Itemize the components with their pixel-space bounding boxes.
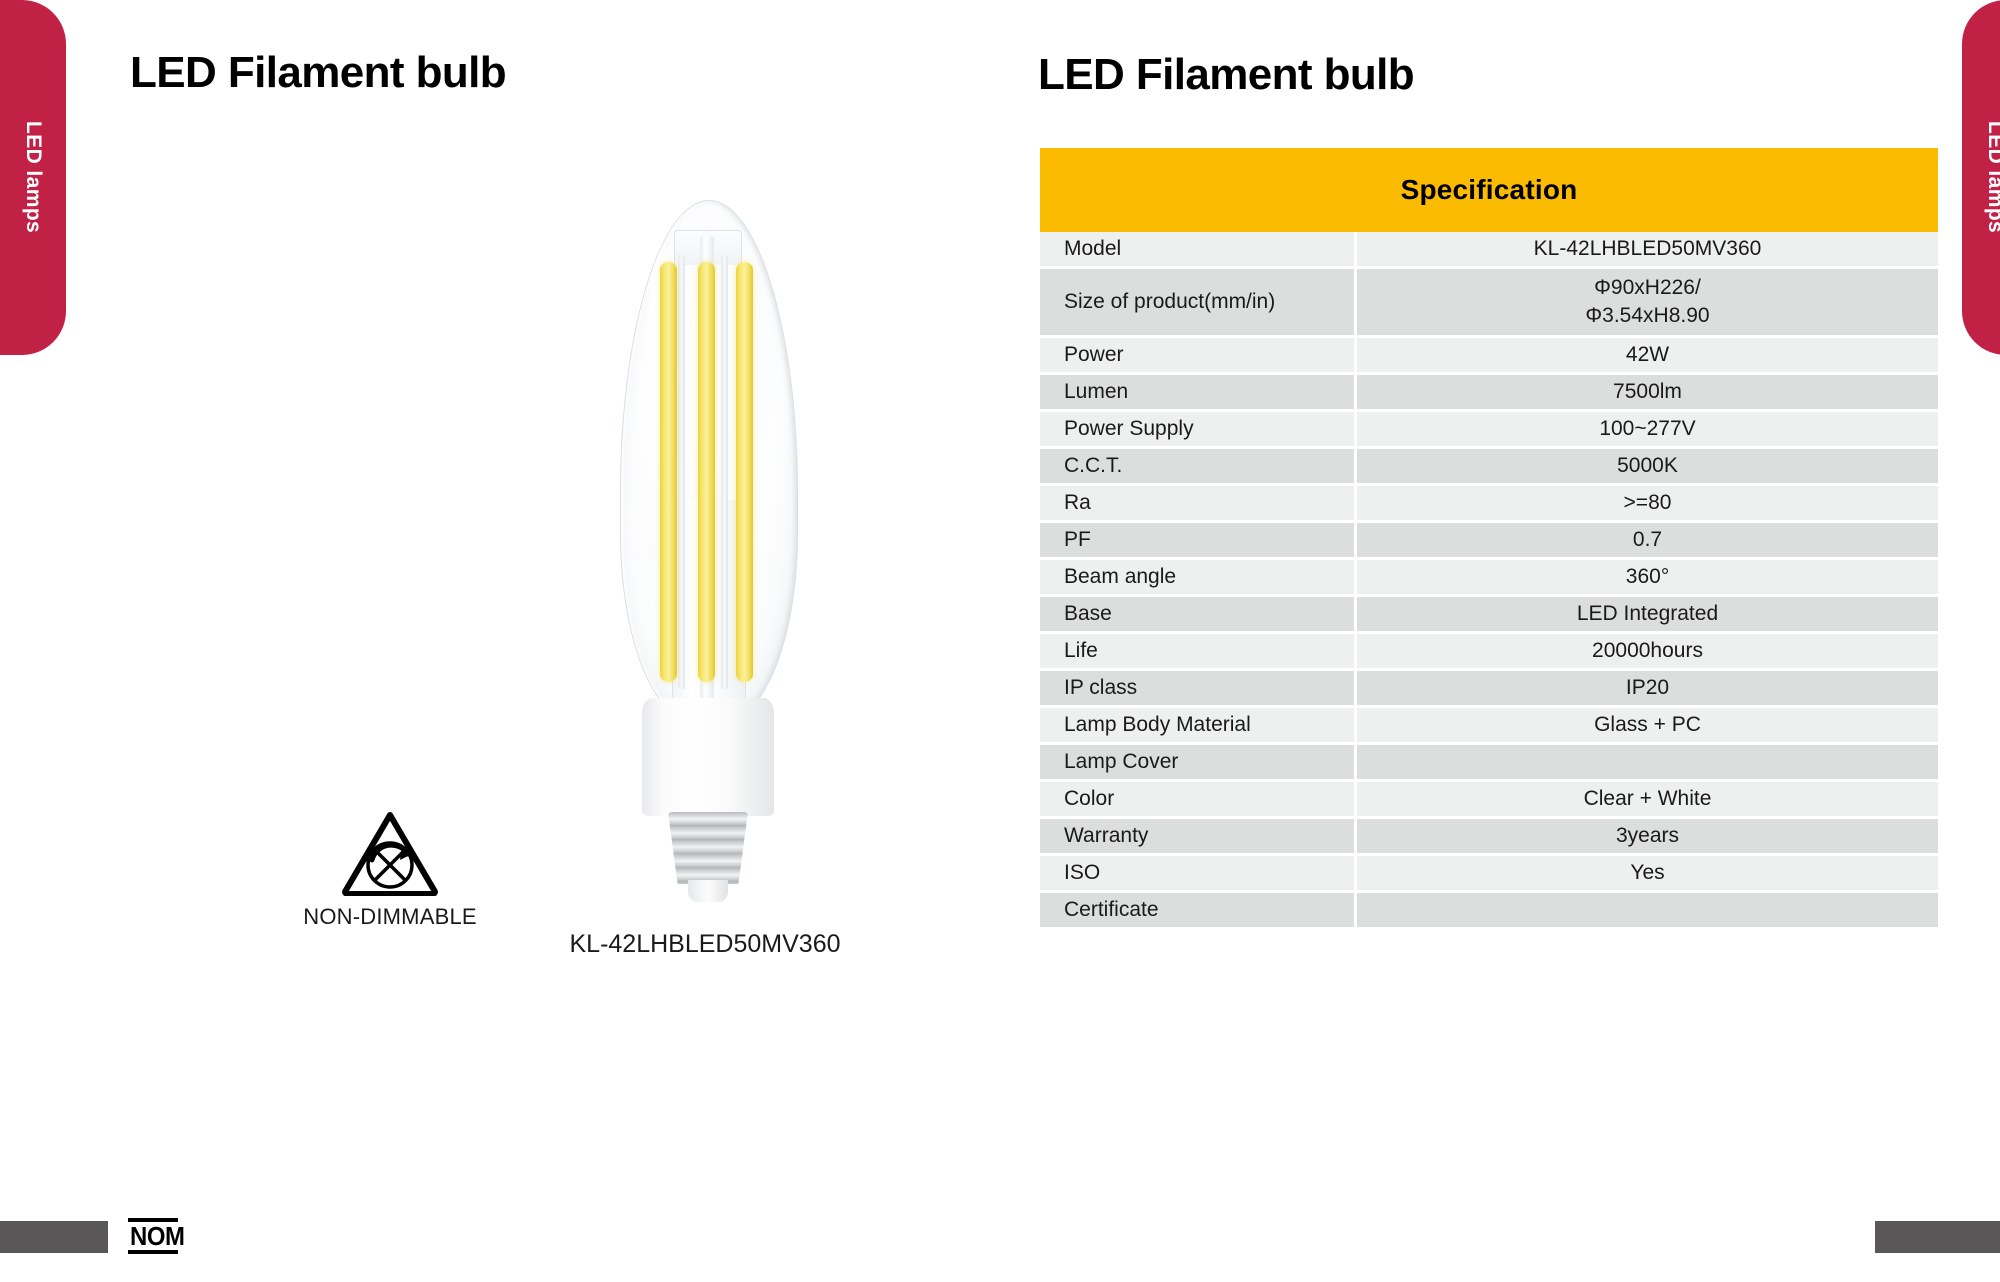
spec-row-value: 0.7 [1354,523,1938,560]
nom-certification-logo: NOM [128,1218,178,1254]
spec-row-key: Life [1040,634,1354,671]
spec-table-row: Life20000hours [1040,634,1938,671]
side-tab-right: LED lamps [1962,0,2000,355]
spec-table-row: Ra>=80 [1040,486,1938,523]
led-filament-strip [698,262,715,682]
spec-row-value: Clear + White [1354,782,1938,819]
side-tab-right-label: LED lamps [1983,121,2000,233]
spec-row-key: Lamp Body Material [1040,708,1354,745]
spec-row-value: 42W [1354,338,1938,375]
non-dimmable-icon [342,810,438,896]
spec-row-value: IP20 [1354,671,1938,708]
spec-table-body: ModelKL-42LHBLED50MV360Size of product(m… [1040,232,1938,930]
nom-logo-text: NOM [130,1222,176,1250]
spec-row-value [1354,893,1938,930]
footer-bar-left [0,1221,108,1253]
spec-row-value: 20000hours [1354,634,1938,671]
bulb-support-rod [678,254,685,690]
spec-table-row: Lamp Body MaterialGlass + PC [1040,708,1938,745]
spec-row-key: Certificate [1040,893,1354,930]
spec-row-key: Lamp Cover [1040,745,1354,782]
bulb-screw-base [668,812,748,884]
spec-row-key: Ra [1040,486,1354,523]
specification-table: Specification ModelKL-42LHBLED50MV360Siz… [1040,148,1938,930]
spec-row-value: 100~277V [1354,412,1938,449]
spec-table-row: Beam angle360° [1040,560,1938,597]
bulb-support-rod [721,254,728,690]
spec-table-header-row: Specification [1040,148,1938,232]
spec-table-row: Certificate [1040,893,1938,930]
spec-row-value: LED Integrated [1354,597,1938,634]
spec-row-value: Yes [1354,856,1938,893]
spec-row-value: KL-42LHBLED50MV360 [1354,232,1938,269]
spec-table-row: ColorClear + White [1040,782,1938,819]
side-tab-left-label: LED lamps [21,121,45,233]
spec-row-value: 7500lm [1354,375,1938,412]
spec-row-value: 360° [1354,560,1938,597]
non-dimmable-badge: NON-DIMMABLE [290,810,490,930]
spec-row-key: PF [1040,523,1354,560]
model-caption: KL-42LHBLED50MV360 [490,930,920,959]
spec-row-value [1354,745,1938,782]
spec-row-key: C.C.T. [1040,449,1354,486]
spec-row-key: Lumen [1040,375,1354,412]
led-filament-bulb-image [602,200,812,920]
spec-table-title: Specification [1040,148,1938,232]
spec-row-key: IP class [1040,671,1354,708]
non-dimmable-label: NON-DIMMABLE [290,904,490,930]
spec-table-row: Size of product(mm/in)Φ90xH226/Φ3.54xH8.… [1040,269,1938,338]
product-panel: NON-DIMMABLE KL-42LHBLED50MV360 [90,150,950,970]
spec-row-key: Base [1040,597,1354,634]
spec-table-row: Power42W [1040,338,1938,375]
spec-table-row: C.C.T.5000K [1040,449,1938,486]
spec-table-row: ModelKL-42LHBLED50MV360 [1040,232,1938,269]
led-filament-strip [660,262,677,682]
page-title-left: LED Filament bulb [130,48,506,98]
spec-table-row: BaseLED Integrated [1040,597,1938,634]
spec-table-row: PF0.7 [1040,523,1938,560]
spec-row-key: Model [1040,232,1354,269]
spec-table-row: IP classIP20 [1040,671,1938,708]
spec-row-value-line: Φ3.54xH8.90 [1357,302,1938,330]
side-tab-left: LED lamps [0,0,66,355]
spec-row-key: Color [1040,782,1354,819]
spec-row-value-line: Φ90xH226/ [1357,274,1938,302]
spec-row-value: >=80 [1354,486,1938,523]
spec-table-row: Warranty3years [1040,819,1938,856]
spec-row-value: Φ90xH226/Φ3.54xH8.90 [1354,269,1938,338]
spec-row-key: Power [1040,338,1354,375]
spec-row-value: 3years [1354,819,1938,856]
footer-bar-right [1875,1221,2000,1253]
spec-row-value: Glass + PC [1354,708,1938,745]
spec-row-key: Power Supply [1040,412,1354,449]
spec-table-row: Lumen7500lm [1040,375,1938,412]
bulb-pc-body [642,698,774,816]
spec-table-row: Lamp Cover [1040,745,1938,782]
spec-row-value: 5000K [1354,449,1938,486]
led-filament-strip [736,262,753,682]
spec-row-key: Warranty [1040,819,1354,856]
spec-table-row: ISOYes [1040,856,1938,893]
page-title-right: LED Filament bulb [1038,50,1414,100]
spec-row-key: Size of product(mm/in) [1040,269,1354,338]
bulb-base-tip [688,880,728,902]
spec-table-row: Power Supply100~277V [1040,412,1938,449]
spec-row-key: ISO [1040,856,1354,893]
spec-row-key: Beam angle [1040,560,1354,597]
